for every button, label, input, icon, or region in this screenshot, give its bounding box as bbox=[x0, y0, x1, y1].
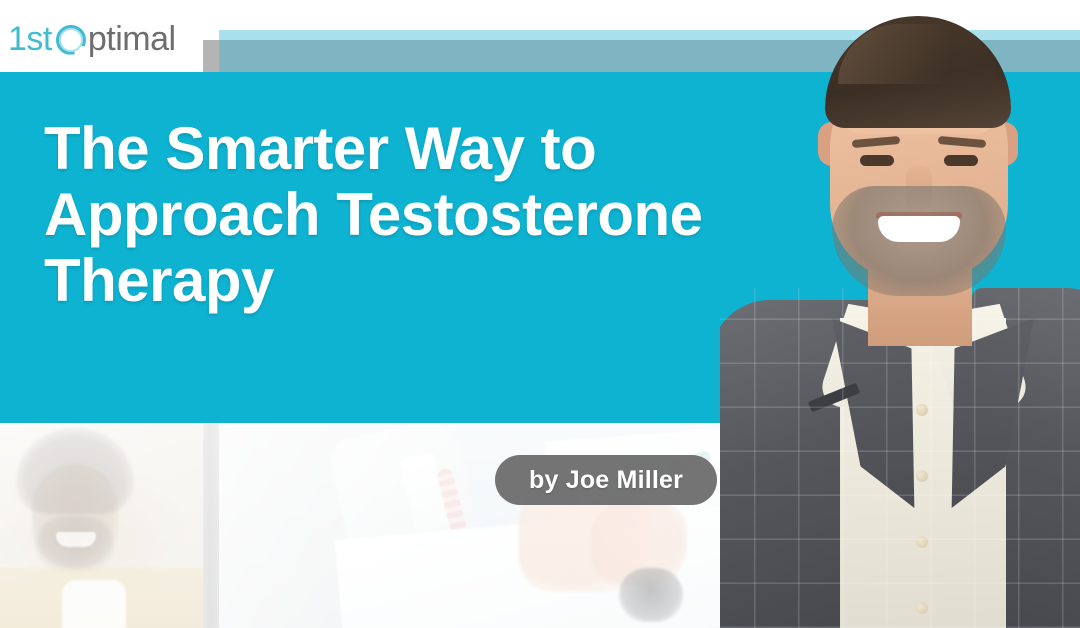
vertical-divider bbox=[203, 420, 219, 628]
eye-left bbox=[860, 155, 894, 166]
shirt-button bbox=[916, 536, 928, 548]
logo-header-area: 1st ptimal bbox=[0, 0, 203, 72]
portrait-shirt bbox=[62, 580, 126, 628]
logo-text-primary: 1st bbox=[8, 20, 52, 59]
logo-text-secondary: ptimal bbox=[88, 20, 176, 59]
shirt-button bbox=[916, 602, 928, 614]
blog-header-banner: 1st ptimal The Smarter Way to Approach T… bbox=[0, 0, 1080, 628]
wristwatch bbox=[619, 568, 683, 622]
shirt-button bbox=[916, 470, 928, 482]
author-byline-badge: by Joe Miller bbox=[495, 455, 717, 505]
right-portrait-photo bbox=[720, 0, 1080, 628]
eye-right bbox=[944, 155, 978, 166]
shirt-button bbox=[916, 404, 928, 416]
accent-bar-gray bbox=[203, 40, 219, 72]
author-byline-text: by Joe Miller bbox=[529, 466, 683, 495]
optimal-ring-icon bbox=[56, 25, 86, 55]
bottom-left-portrait-photo bbox=[0, 420, 205, 628]
brand-logo[interactable]: 1st ptimal bbox=[8, 20, 176, 59]
portrait-smile bbox=[56, 532, 96, 547]
smile-teeth bbox=[878, 216, 960, 242]
